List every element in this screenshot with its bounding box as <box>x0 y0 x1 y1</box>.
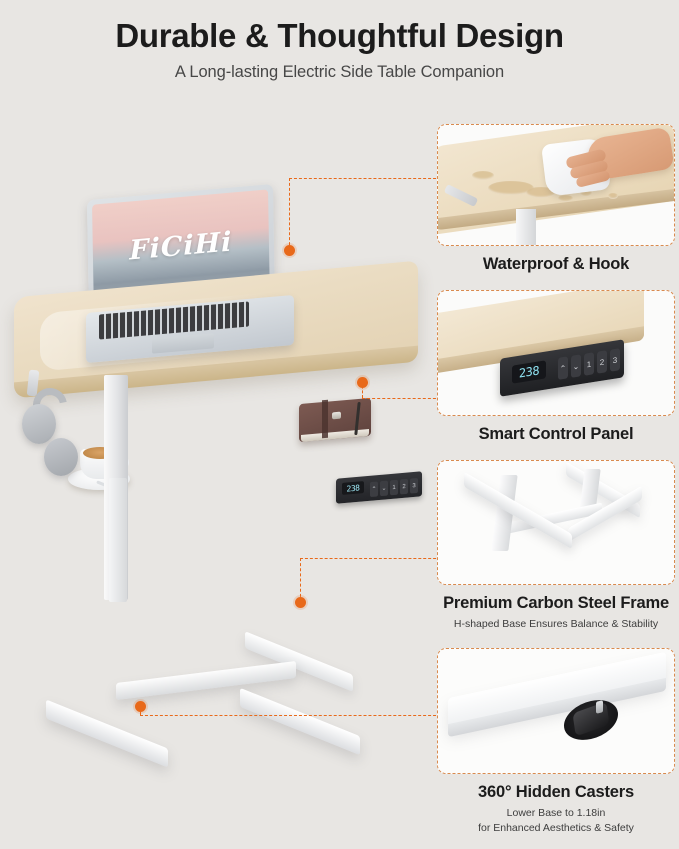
frame-foot-left <box>464 472 572 549</box>
control-key-preset-2[interactable]: 2 <box>597 350 607 374</box>
control-key-up-icon[interactable]: ⌃ <box>558 356 568 380</box>
headphones-earcup-left <box>22 404 56 444</box>
base-crossbar <box>116 661 296 700</box>
caster-pin <box>596 700 603 713</box>
connector-line-vertical <box>289 178 290 250</box>
control-key-preset-3[interactable]: 3 <box>410 478 418 494</box>
notebook-strap <box>322 400 328 439</box>
notebook-clasp <box>332 412 341 420</box>
connector-line-horizontal <box>140 715 441 716</box>
caster-illustration <box>438 649 674 773</box>
headphones-earcup-right <box>44 438 78 476</box>
control-key-preset-3[interactable]: 3 <box>610 348 620 372</box>
connector-line-horizontal <box>300 558 441 559</box>
water-droplet <box>608 193 618 199</box>
connector-dot <box>284 245 295 256</box>
feature-panel-waterproof-hook: Waterproof & Hook <box>437 124 675 274</box>
page-title: Durable & Thoughtful Design <box>0 18 679 54</box>
feature-panel-hidden-casters: 360° Hidden Casters Lower Base to 1.18in… <box>437 648 675 835</box>
feature-image-frame <box>437 124 675 246</box>
infographic-page: Durable & Thoughtful Design A Long-lasti… <box>0 0 679 849</box>
feature-label: 360° Hidden Casters <box>437 783 675 802</box>
feature-image-frame <box>437 460 675 585</box>
desk-leg <box>516 209 536 245</box>
connector-dot <box>295 597 306 608</box>
waterproof-illustration <box>438 125 674 245</box>
feature-panel-steel-frame: Premium Carbon Steel Frame H-shaped Base… <box>437 460 675 631</box>
desk-control-display: 238 <box>342 481 364 495</box>
connector-dot <box>357 377 368 388</box>
feature-sublabel: H-shaped Base Ensures Balance & Stabilit… <box>437 617 675 631</box>
base-foot-left <box>46 699 168 767</box>
control-key-preset-1[interactable]: 1 <box>584 352 594 376</box>
feature-image-frame <box>437 648 675 774</box>
laptop-screen-brand-text: FiCiHi <box>93 223 270 269</box>
control-key-up-icon[interactable]: ⌃ <box>370 481 378 497</box>
header: Durable & Thoughtful Design A Long-lasti… <box>0 18 679 82</box>
lift-column-inner <box>109 478 127 602</box>
feature-label: Smart Control Panel <box>437 425 675 444</box>
feature-image-frame: 238 ⌃ ⌄ 1 2 3 <box>437 290 675 416</box>
water-droplet <box>472 171 494 180</box>
feature-sublabel-line2: for Enhanced Aesthetics & Safety <box>437 821 675 835</box>
page-subtitle: A Long-lasting Electric Side Table Compa… <box>0 63 679 82</box>
feature-label: Waterproof & Hook <box>437 255 675 274</box>
water-droplet <box>558 195 573 202</box>
feature-sublabel-line1: Lower Base to 1.18in <box>437 806 675 820</box>
connector-dot <box>135 701 146 712</box>
control-key-preset-1[interactable]: 1 <box>390 480 398 496</box>
desk-control-display-value: 238 <box>347 483 360 493</box>
base-foot-rear <box>245 631 353 692</box>
feature-panel-smart-control: 238 ⌃ ⌄ 1 2 3 Smart Control Panel <box>437 290 675 444</box>
base-foot-right <box>240 688 360 755</box>
connector-line-horizontal <box>362 398 441 399</box>
connector-line-vertical <box>300 558 301 602</box>
control-panel-illustration: 238 ⌃ ⌄ 1 2 3 <box>438 291 674 415</box>
connector-line-horizontal <box>289 178 441 179</box>
feature-label: Premium Carbon Steel Frame <box>437 594 675 613</box>
control-panel-display-value: 238 <box>519 363 539 380</box>
control-key-down-icon[interactable]: ⌄ <box>571 354 581 378</box>
steel-frame-illustration <box>438 461 674 584</box>
control-key-preset-2[interactable]: 2 <box>400 479 408 495</box>
control-key-down-icon[interactable]: ⌄ <box>380 481 388 497</box>
hero-product-image: FiCiHi 238 ⌃ ⌄ 1 2 3 <box>0 112 432 849</box>
